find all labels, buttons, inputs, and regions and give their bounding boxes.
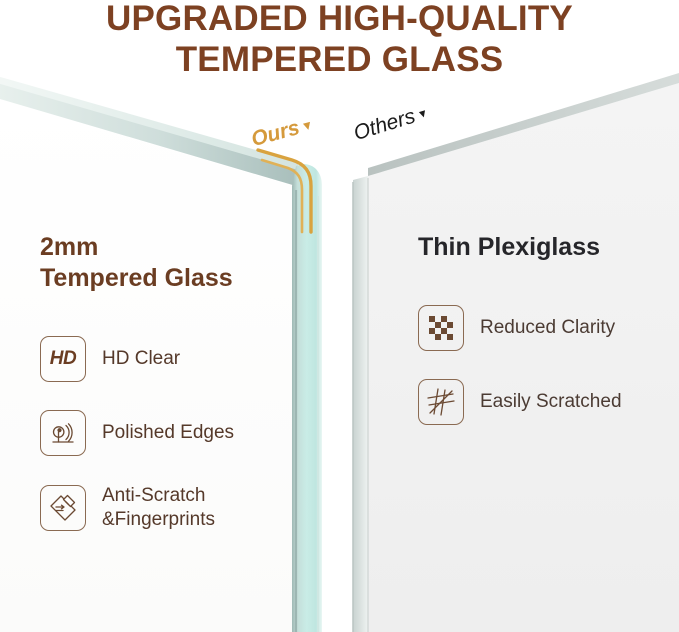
feature-label: HD Clear [102,347,180,371]
hd-icon-text: HD [50,348,76,370]
checkerboard-icon [418,305,464,351]
anti-scratch-cloth-icon [40,485,86,531]
polishing-wheel-icon [40,410,86,456]
feature-hd-clear: HD HD Clear [40,336,290,382]
feature-label: Polished Edges [102,421,234,445]
ours-feature-list: HD HD Clear Polished Edges [40,336,290,532]
feature-label: Reduced Clarity [480,316,615,340]
feature-easily-scratched: Easily Scratched [418,379,663,425]
scratch-lines-icon [418,379,464,425]
hd-icon: HD [40,336,86,382]
others-panel-edge [353,176,368,632]
feature-reduced-clarity: Reduced Clarity [418,305,663,351]
feature-label: Anti-Scratch &Fingerprints [102,484,215,532]
feature-polished-edges: Polished Edges [40,410,290,456]
ours-heading: 2mm Tempered Glass [40,232,290,294]
feature-anti-scratch: Anti-Scratch &Fingerprints [40,484,290,532]
comparison-graphic: Upgraded High-Quality Tempered Glass Our… [0,0,679,632]
feature-label: Easily Scratched [480,390,622,414]
others-content-column: Thin Plexiglass [418,232,663,425]
page-title: Upgraded High-Quality Tempered Glass [0,0,679,80]
others-heading: Thin Plexiglass [418,232,663,263]
others-feature-list: Reduced Clarity Easily Scratched [418,305,663,425]
ours-content-column: 2mm Tempered Glass HD HD Clear [40,232,290,532]
